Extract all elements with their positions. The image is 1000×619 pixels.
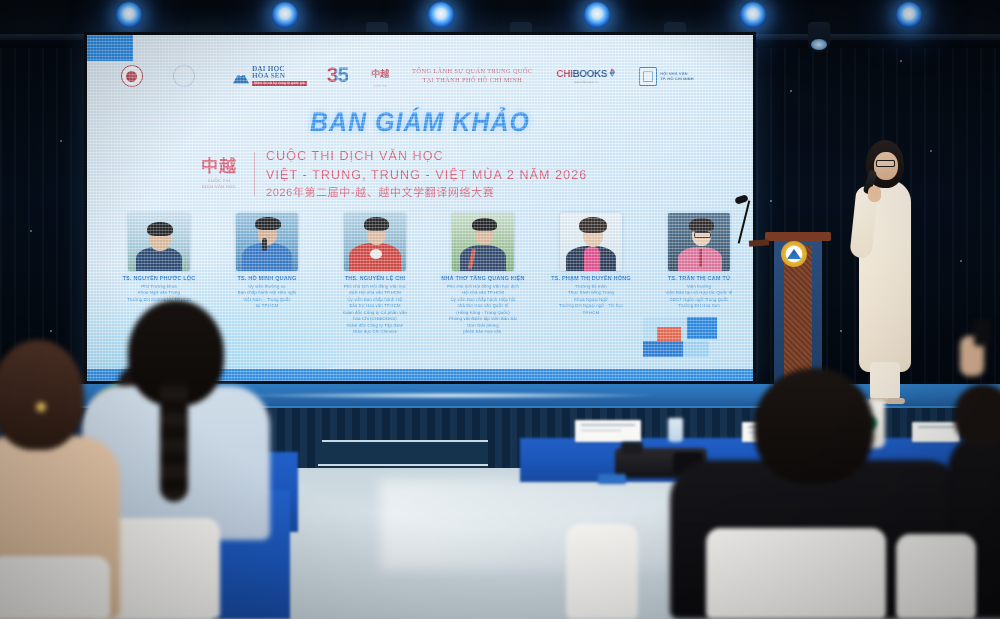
judge-portrait xyxy=(668,213,730,271)
contest-title-block: 中越 CUỘC THI DỊCH VĂN HỌC CUỘC THI DỊCH V… xyxy=(195,147,587,201)
hnv-line2: TP. HỒ CHÍ MINH xyxy=(660,76,694,81)
judge-name: THS. NGUYỄN LỆ CHI xyxy=(345,276,406,282)
slide-headline: BAN GIÁM KHẢO xyxy=(114,107,727,138)
speaker-woman-in-ao-dai xyxy=(852,140,918,412)
judge-role: Ủy viên thường vụ Ban chấp hành Hội Hữu … xyxy=(238,284,297,310)
chinese-consulate-general-logo: TỔNG LÃNH SỰ QUÁN TRUNG QUỐC TẠI THÀNH P… xyxy=(412,67,532,86)
par-light xyxy=(896,2,922,28)
judge-name: TS. HỒ MINH QUANG xyxy=(237,276,296,282)
podium-side-arm xyxy=(749,239,769,246)
hoa-sen-ribbon: Niềm tin và hy vọng tự quốc gia xyxy=(252,81,307,86)
stage-skirt xyxy=(0,408,1000,470)
speaker-hand xyxy=(868,186,881,202)
contest-title-line2: VIỆT - TRUNG, TRUNG - VIỆT MÙA 2 NĂM 202… xyxy=(266,166,587,185)
judge-portrait xyxy=(128,213,190,271)
contest-mark-vn2: DỊCH VĂN HỌC xyxy=(195,184,243,190)
hoa-sen-line2: HOA SEN xyxy=(252,73,307,80)
chibooks-leaf-icon xyxy=(608,68,615,77)
par-light xyxy=(428,2,454,28)
consulate-line2: TẠI THÀNH PHỐ HỒ CHÍ MINH xyxy=(412,76,532,85)
stair-step xyxy=(322,440,488,464)
hoa-sen-mark-icon xyxy=(233,69,249,84)
judge-name: NHÀ THƠ TĂNG QUẢNG KIỆN xyxy=(441,276,524,282)
presentation-slide: ĐẠI HỌC HOA SEN Niềm tin và hy vọng tự q… xyxy=(87,35,753,381)
consulate-line1: TỔNG LÃNH SỰ QUÁN TRUNG QUỐC xyxy=(412,67,532,76)
judge-card: TS. PHẠM THỊ DUYÊN HỒNG Trưởng bộ môn Th… xyxy=(541,213,641,336)
hoi-nha-van-tphcm-logo: HỘI NHÀ VĂN TP. HỒ CHÍ MINH xyxy=(639,67,694,86)
block-blue xyxy=(687,317,717,339)
podium-top xyxy=(765,232,831,241)
contest-logo-mark: 中越 CUỘC THI DỊCH VĂN HỌC xyxy=(195,159,243,189)
cuoc-thi-dich-van-hoc-logo: 中越 CUỘC THI xyxy=(370,64,390,88)
par-light xyxy=(740,2,766,28)
contest-cn-mark: 中越 xyxy=(370,64,390,84)
sandal xyxy=(886,398,905,404)
sponsor-logo-row: ĐẠI HỌC HOA SEN Niềm tin và hy vọng tự q… xyxy=(121,55,721,97)
block-red-orange xyxy=(657,327,681,341)
par-light xyxy=(116,2,142,28)
judge-portrait xyxy=(452,213,514,271)
led-screen: ĐẠI HỌC HOA SEN Niềm tin và hy vọng tự q… xyxy=(84,32,756,384)
judge-portrait xyxy=(344,213,406,271)
judge-portrait xyxy=(236,213,298,271)
hoa-sen-university-crest-icon xyxy=(781,241,807,267)
moving-head-light xyxy=(808,22,830,52)
judge-role: Viện trưởng Viện Đào tạo và Hợp tác Quốc… xyxy=(666,284,733,310)
judge-role: Phó chủ tịch Hội đồng Văn học dịch Hội n… xyxy=(447,284,519,336)
slide-decoration-blocks xyxy=(643,317,739,365)
judge-name: TS. TRẦN THỊ CẨM TÚ xyxy=(668,276,730,282)
chibooks-chi: CHI xyxy=(556,69,572,80)
red-circular-seal-logo xyxy=(121,65,143,87)
chibooks-logo: CHIBOOKS www.chibooks.vn xyxy=(556,68,615,84)
contest-mark-sub: CUỘC THI xyxy=(373,85,387,88)
block-lightblue xyxy=(683,341,709,357)
par-light xyxy=(584,2,610,28)
chibooks-url: www.chibooks.vn xyxy=(574,80,598,84)
slide-bottom-strip xyxy=(87,369,753,381)
judge-card: THS. NGUYỄN LỆ CHI Phó chủ tịch Hội đồng… xyxy=(325,213,425,336)
eyeglasses-icon xyxy=(876,160,895,167)
par-light xyxy=(272,2,298,28)
anniversary-number: 35 xyxy=(327,64,348,88)
judge-name: TS. PHẠM THỊ DUYÊN HỒNG xyxy=(551,276,631,282)
judge-name: TS. NGUYỄN PHƯỚC LỘC xyxy=(123,276,196,282)
35-anniversary-logo: 35 xyxy=(327,64,348,88)
contest-mark-cn: 中越 xyxy=(195,159,243,175)
chibooks-books: BOOKS xyxy=(572,69,607,80)
judge-role: Phó chủ tịch Hội đồng Văn học dịch Hội n… xyxy=(343,284,407,336)
title-divider xyxy=(254,152,255,196)
judge-card: NHÀ THƠ TĂNG QUẢNG KIỆN Phó chủ tịch Hội… xyxy=(433,213,533,336)
faint-circular-logo xyxy=(173,65,195,87)
dai-hoc-hoa-sen-logo: ĐẠI HỌC HOA SEN Niềm tin và hy vọng tự q… xyxy=(233,66,307,86)
podium-wood-panel xyxy=(784,246,812,396)
judge-portrait xyxy=(560,213,622,271)
floor-reflection xyxy=(380,480,1000,570)
judge-role: Trưởng bộ môn Thực hành tiếng Trung Khoa… xyxy=(559,284,623,316)
block-blue-2 xyxy=(643,341,683,357)
contest-title-line3: 2026年第二届中-越、越中文学翻译网络大赛 xyxy=(266,185,587,202)
judge-card: TS. HỒ MINH QUANG Ủy viên thường vụ Ban … xyxy=(217,213,317,336)
contest-title-line1: CUỘC THI DỊCH VĂN HỌC xyxy=(266,147,587,166)
judge-card: TS. NGUYỄN PHƯỚC LỘC Phó Trưởng khoa Kho… xyxy=(109,213,209,336)
stage-light-reflection xyxy=(240,392,660,399)
ao-dai-pants xyxy=(870,362,900,400)
judge-role: Phó Trưởng khoa Khoa Ngữ văn Trung Trườn… xyxy=(127,284,191,303)
photo-scene: ĐẠI HỌC HOA SEN Niềm tin và hy vọng tự q… xyxy=(0,0,1000,619)
book-emblem-icon xyxy=(639,67,657,86)
podium xyxy=(765,232,831,407)
